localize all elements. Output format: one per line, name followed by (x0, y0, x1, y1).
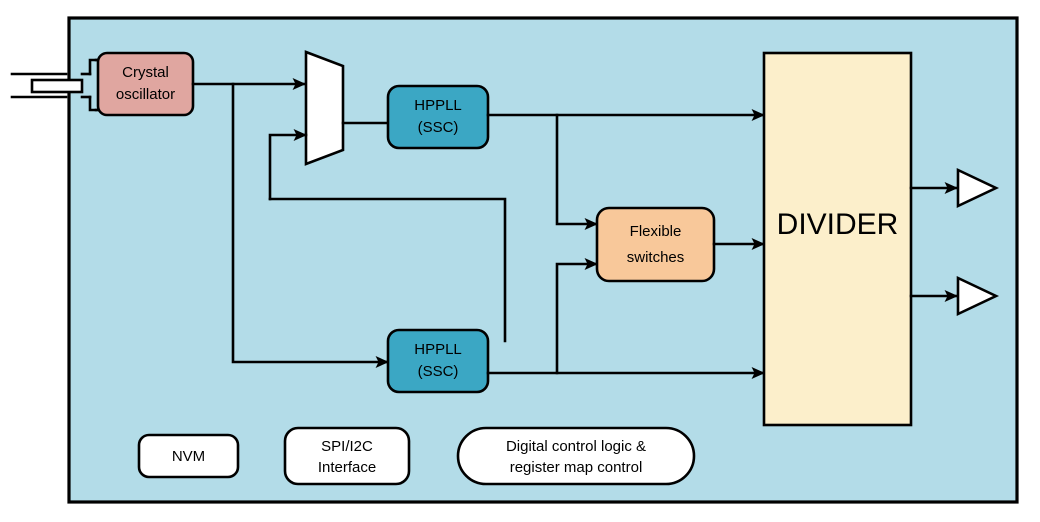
nvm-label: NVM (172, 448, 205, 465)
mux-block[interactable] (306, 52, 343, 164)
digital-control-label-line2: register map control (510, 459, 643, 476)
hppll-bottom-label-line2: (SSC) (418, 363, 459, 380)
digital-control-block[interactable]: Digital control logic & register map con… (458, 428, 694, 484)
hppll-top-label-line1: HPPLL (414, 97, 462, 114)
hppll-top-label-line2: (SSC) (418, 119, 459, 136)
hppll-top-block[interactable]: HPPLL (SSC) (388, 86, 488, 148)
crystal-oscillator-shape[interactable] (98, 53, 193, 115)
hppll-bottom-block[interactable]: HPPLL (SSC) (388, 330, 488, 392)
crystal-oscillator-label-line1: Crystal (122, 64, 169, 81)
crystal-oscillator-label-line2: oscillator (116, 86, 175, 103)
digital-control-label-line1: Digital control logic & (506, 438, 646, 455)
hppll-top-shape[interactable] (388, 86, 488, 148)
crystal-oscillator-block[interactable]: Crystal oscillator (98, 53, 193, 115)
mux-shape[interactable] (306, 52, 343, 164)
nvm-block[interactable]: NVM (139, 435, 238, 477)
diagram-canvas: Crystal oscillator HPPLL (SSC) (0, 0, 1040, 522)
flexible-switches-label-line2: switches (627, 249, 685, 266)
spi-i2c-label-line2: Interface (318, 459, 376, 476)
spi-i2c-block[interactable]: SPI/I2C Interface (285, 428, 409, 484)
divider-block[interactable]: DIVIDER (764, 53, 911, 425)
divider-label: DIVIDER (777, 208, 899, 241)
flexible-switches-label-line1: Flexible (630, 223, 682, 240)
hppll-bottom-label-line1: HPPLL (414, 341, 462, 358)
spi-i2c-label-line1: SPI/I2C (321, 438, 373, 455)
block-diagram: Crystal oscillator HPPLL (SSC) (0, 0, 1040, 522)
flexible-switches-block[interactable]: Flexible switches (597, 208, 714, 281)
hppll-bottom-shape[interactable] (388, 330, 488, 392)
flexible-switches-shape[interactable] (597, 208, 714, 281)
